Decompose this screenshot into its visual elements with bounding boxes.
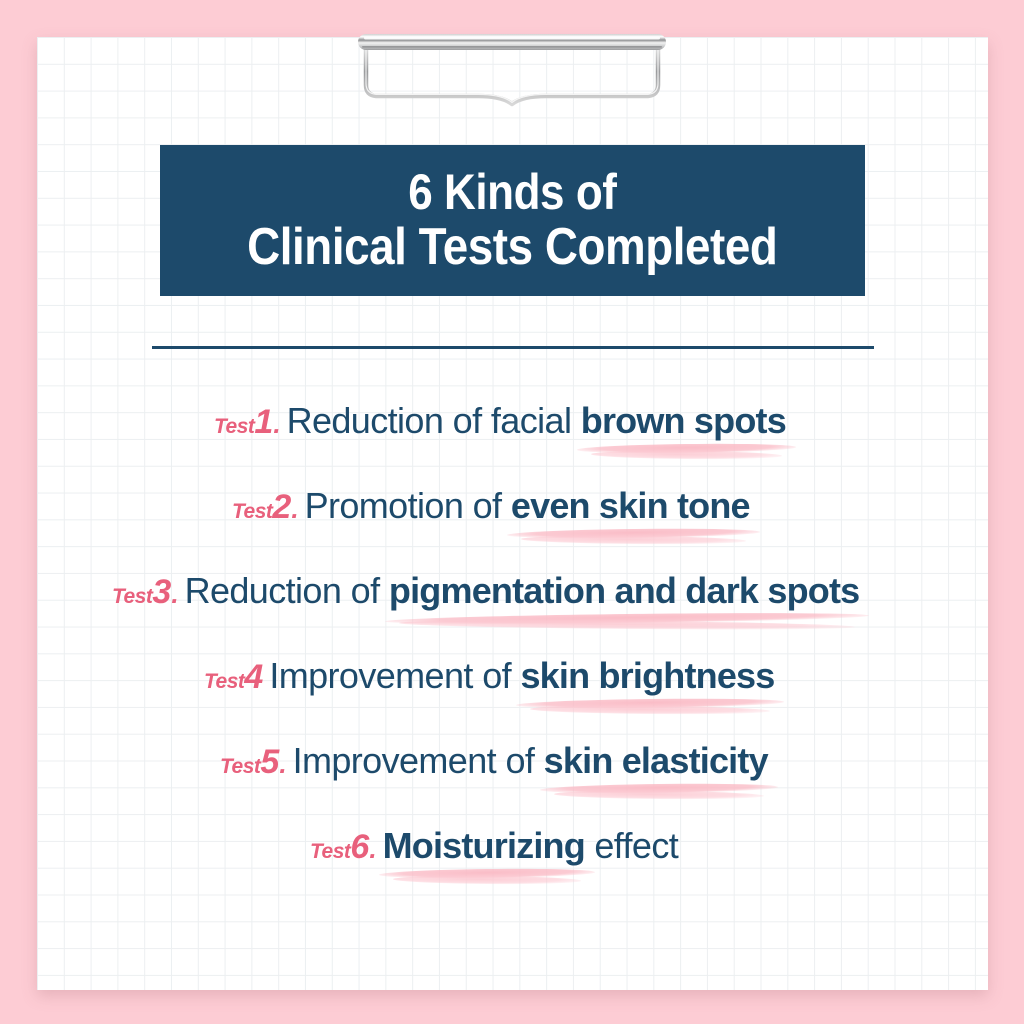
test-tag-dot: . <box>279 749 286 779</box>
test-tag: Test3. <box>112 573 179 612</box>
list-item: Test5. Improvement of skin elasticity <box>0 718 1024 803</box>
test-text-bold: brown spots <box>581 400 786 441</box>
test-text-highlight: even skin tone <box>511 485 750 527</box>
banner-line-1: 6 Kinds of <box>408 165 616 219</box>
test-text-bold: Moisturizing <box>383 825 585 866</box>
test-text-bold: skin brightness <box>520 655 774 696</box>
test-text-pre: Reduction of <box>185 570 389 611</box>
list-item: Test3. Reduction of pigmentation and dar… <box>0 548 1024 633</box>
test-text-highlight: brown spots <box>581 400 786 442</box>
test-text-bold: even skin tone <box>511 485 750 526</box>
test-tag: Test5. <box>220 743 287 782</box>
test-tag-dot: . <box>273 409 280 439</box>
list-item: Test2. Promotion of even skin tone <box>0 463 1024 548</box>
test-tag-word: Test <box>214 415 254 438</box>
test-text-bold: skin elasticity <box>544 740 768 781</box>
title-banner: 6 Kinds of Clinical Tests Completed <box>160 145 865 296</box>
test-tag-number: 2 <box>272 488 291 526</box>
test-tag: Test1. <box>214 403 281 442</box>
test-text-pre: Reduction of facial <box>287 400 581 441</box>
test-tag-dot: . <box>291 494 298 524</box>
test-text-pre: Improvement of <box>269 655 520 696</box>
list-item: Test6. Moisturizing effect <box>0 803 1024 888</box>
test-tag: Test6. <box>310 828 377 867</box>
section-divider <box>152 346 874 349</box>
test-text-pre: Promotion of <box>305 485 511 526</box>
list-item: Test1. Reduction of facial brown spots <box>0 378 1024 463</box>
test-tag-dot: . <box>171 579 178 609</box>
test-tag-number: 1 <box>254 403 273 441</box>
poster-root: 6 Kinds of Clinical Tests Completed Test… <box>0 0 1024 1024</box>
test-tag-word: Test <box>232 500 272 523</box>
test-text-highlight: pigmentation and dark spots <box>389 570 859 612</box>
test-tag-word: Test <box>310 840 350 863</box>
test-tag-word: Test <box>112 585 152 608</box>
test-text-post: effect <box>585 825 678 866</box>
test-text: Improvement of skin elasticity <box>293 740 768 782</box>
test-text-highlight: Moisturizing <box>383 825 585 867</box>
test-text: Moisturizing effect <box>383 825 679 867</box>
test-tag-word: Test <box>220 755 260 778</box>
test-tag-number: 6 <box>350 828 369 866</box>
test-text: Promotion of even skin tone <box>305 485 750 527</box>
test-tag-number: 4 <box>244 658 263 696</box>
test-tag: Test2. <box>232 488 299 527</box>
test-tag-dot: . <box>369 834 376 864</box>
list-item: Test4 Improvement of skin brightness <box>0 633 1024 718</box>
test-tag: Test4 <box>204 658 263 697</box>
test-tag-word: Test <box>204 670 244 693</box>
test-tag-number: 3 <box>152 573 171 611</box>
test-text-bold: pigmentation and dark spots <box>389 570 859 611</box>
test-text-pre: Improvement of <box>293 740 544 781</box>
test-text-highlight: skin elasticity <box>544 740 768 782</box>
test-text: Reduction of pigmentation and dark spots <box>185 570 860 612</box>
test-tag-number: 5 <box>260 743 279 781</box>
banner-line-2: Clinical Tests Completed <box>247 219 777 275</box>
test-text: Improvement of skin brightness <box>269 655 774 697</box>
test-text-highlight: skin brightness <box>520 655 774 697</box>
test-text: Reduction of facial brown spots <box>287 400 786 442</box>
clinical-test-list: Test1. Reduction of facial brown spots T… <box>0 378 1024 888</box>
